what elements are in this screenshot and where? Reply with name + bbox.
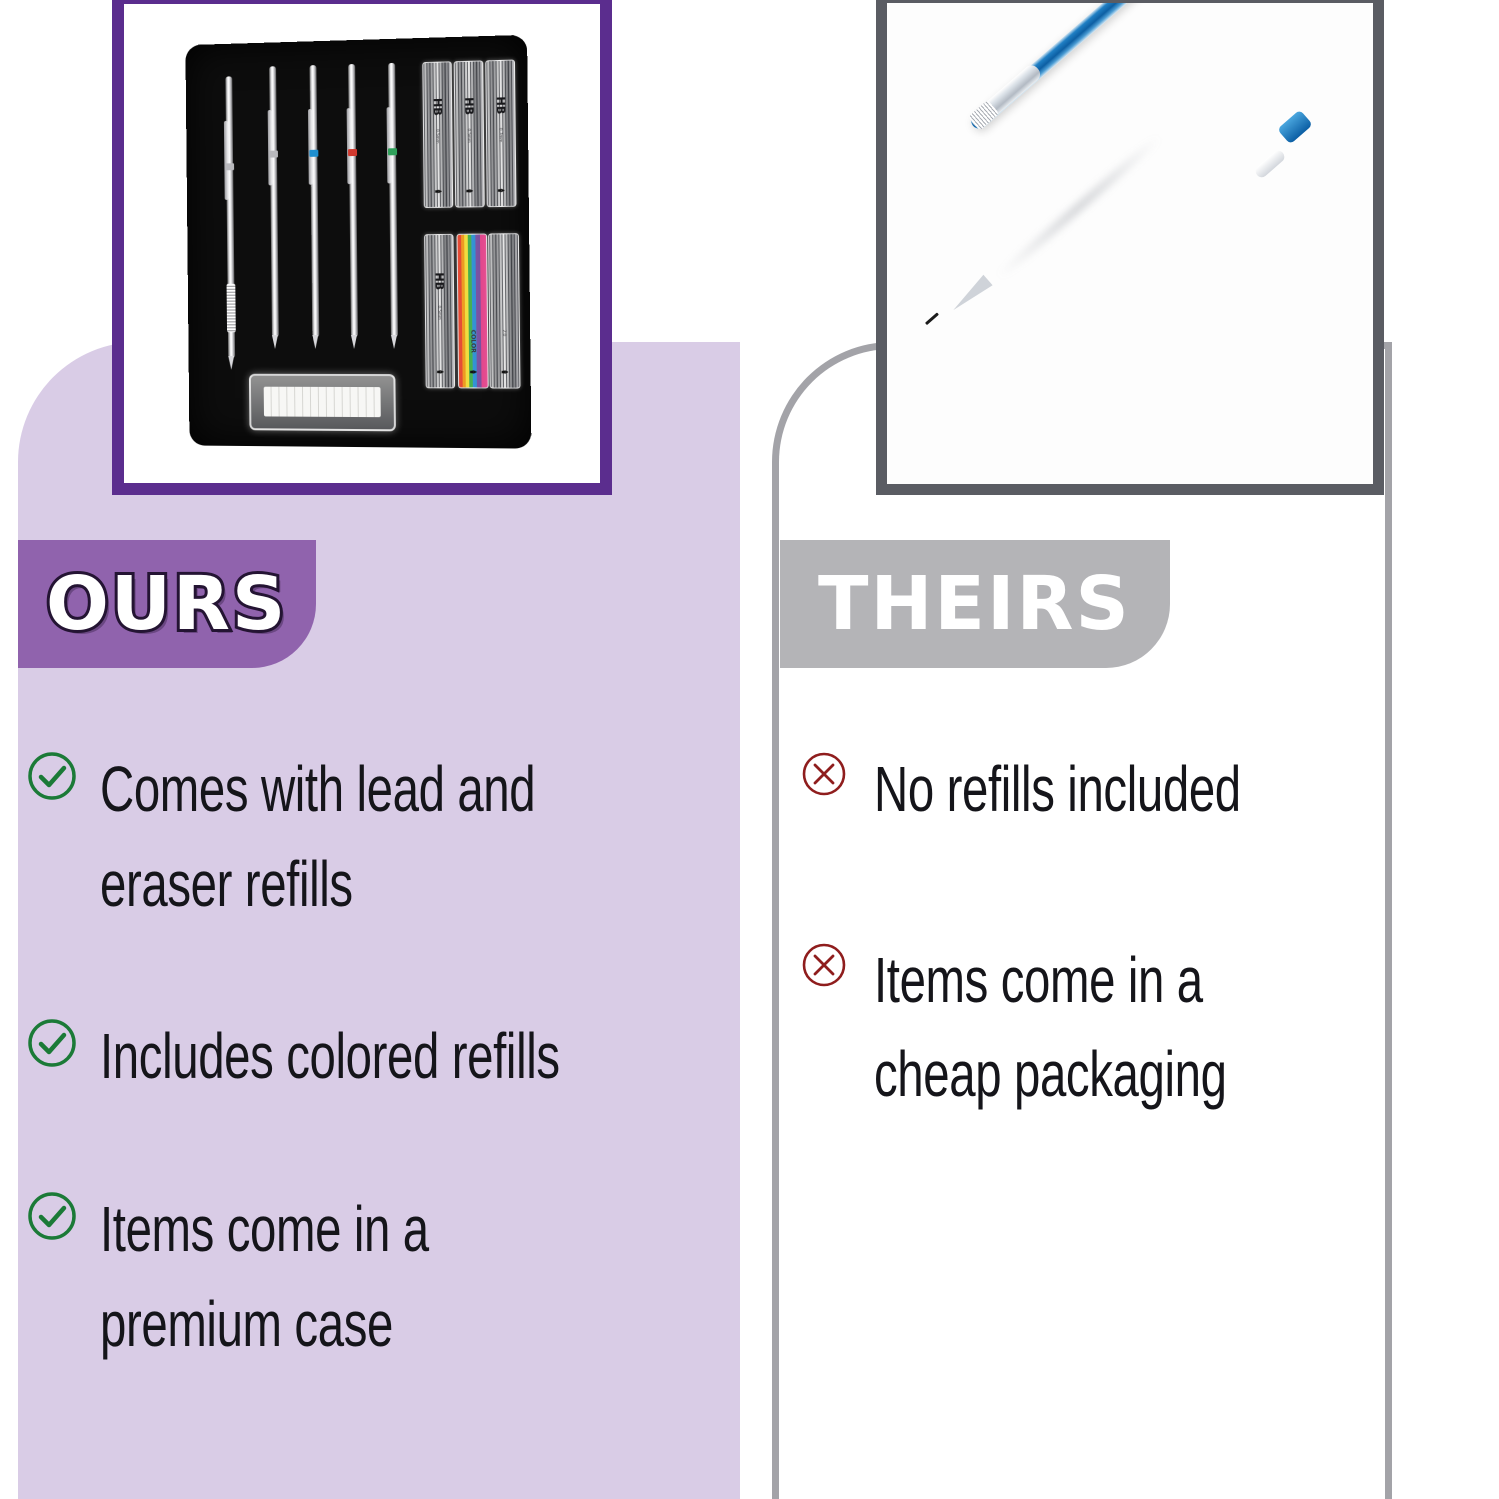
pencil-color-band (348, 149, 357, 156)
pencil-clip-icon (1253, 148, 1287, 179)
pencil-tip-icon (271, 335, 277, 349)
lead-sticks (489, 235, 519, 388)
ours-feature-list: Comes with lead and eraser refills Inclu… (26, 742, 726, 1450)
list-item: Items come in a cheap packaging (800, 933, 1380, 1122)
pencil-push-cap (1277, 110, 1313, 145)
blue-mechanical-pencil (955, 109, 1281, 383)
check-circle-icon (26, 1190, 78, 1242)
pencil-tip-icon (228, 355, 234, 369)
lead-grade-label: HB (493, 96, 507, 114)
ours-title: OURS (46, 567, 287, 641)
theirs-title: THEIRS (818, 567, 1131, 641)
list-item: Items come in a premium case (26, 1182, 726, 1371)
list-item: Includes colored refills (26, 1009, 726, 1104)
lead-tube-bottom-3: ✒ 2.0 (488, 233, 520, 388)
pencil-color-band (309, 150, 318, 157)
cross-circle-icon (800, 941, 848, 989)
pencil-clip-icon (307, 109, 312, 185)
lead-brand-label: ✒ (435, 368, 445, 378)
lead-tube-top-2: HB 0.5mm ✒ (453, 61, 484, 208)
pencil-tip-icon (312, 335, 318, 349)
pencil-case-tray: HB 0.5mm ✒ HB 0.5mm ✒ HB 0.7mm ✒ HB 0.5m… (185, 35, 531, 449)
mechanical-pencil-5 (387, 63, 397, 337)
check-circle-icon (26, 750, 78, 802)
ours-product-image-frame: HB 0.5mm ✒ HB 0.5mm ✒ HB 0.7mm ✒ HB 0.5m… (112, 0, 612, 495)
lead-size-label: 0.5mm (466, 128, 471, 142)
pencil-lead-tip (925, 312, 939, 325)
list-item-label: Items come in a cheap packaging (874, 933, 1248, 1122)
ours-product-photo: HB 0.5mm ✒ HB 0.5mm ✒ HB 0.7mm ✒ HB 0.5m… (124, 4, 600, 483)
lead-grade-label: HB (462, 97, 475, 115)
mechanical-pencil-3 (309, 65, 319, 337)
lead-tube-colored: ✒ COLOR (456, 234, 488, 389)
mechanical-pencil-1 (225, 76, 235, 358)
pencil-color-band (225, 163, 234, 170)
pencil-cone (949, 275, 993, 316)
eraser-refill-pack (248, 374, 395, 431)
check-circle-icon (26, 1017, 78, 1069)
pencil-tip-icon (390, 335, 396, 349)
mechanical-pencil-4 (348, 64, 358, 337)
list-item-label: Includes colored refills (100, 1009, 563, 1104)
mechanical-pencil-2 (268, 67, 278, 338)
list-item: No refills included (800, 742, 1380, 837)
lead-tube-top-1: HB 0.5mm ✒ (422, 62, 453, 208)
pencil-grip (226, 284, 235, 332)
pencil-clip-icon (386, 107, 391, 184)
list-item-label: Items come in a premium case (100, 1182, 563, 1371)
colored-lead-stripes (457, 235, 487, 388)
theirs-product-photo (887, 3, 1373, 484)
pencil-clip-icon (224, 121, 229, 200)
ours-banner: OURS (18, 540, 316, 668)
lead-size-label: 0.5mm (437, 305, 442, 319)
lead-tube-top-3: HB 0.7mm ✒ (484, 60, 516, 207)
pencil-clip-icon (346, 108, 351, 184)
theirs-feature-list: No refills included Items come in a chea… (800, 742, 1380, 1218)
cross-circle-icon (800, 750, 848, 798)
list-item-label: Comes with lead and eraser refills (100, 742, 563, 931)
list-item-label: No refills included (874, 742, 1248, 837)
lead-grade-label: HB (430, 97, 443, 115)
lead-grade-label: HB (432, 272, 445, 290)
list-item: Comes with lead and eraser refills (26, 742, 726, 931)
pencil-clip-icon (267, 110, 272, 186)
pencil-barrel (968, 0, 1234, 132)
lead-brand-label: ✒ (468, 368, 478, 378)
lead-brand-label: ✒ (496, 187, 506, 197)
pencil-color-band (268, 150, 277, 157)
theirs-product-image-frame (876, 0, 1384, 495)
lead-size-label: 0.7mm (498, 128, 503, 142)
pencil-tip-icon (351, 335, 357, 349)
pencil-color-band (387, 148, 396, 155)
lead-size-label: 0.5mm (435, 129, 440, 143)
lead-brand-label: ✒ (433, 188, 443, 198)
lead-brand-label: ✒ (499, 368, 509, 378)
pencil-shadow (994, 132, 1164, 282)
lead-size-label: 2.0 (501, 329, 506, 335)
lead-tube-bottom-1: HB 0.5mm ✒ (423, 234, 454, 388)
colored-lead-label: COLOR (469, 329, 476, 352)
lead-brand-label: ✒ (464, 187, 474, 197)
eraser-refills (263, 387, 380, 417)
theirs-banner: THEIRS (780, 540, 1170, 668)
